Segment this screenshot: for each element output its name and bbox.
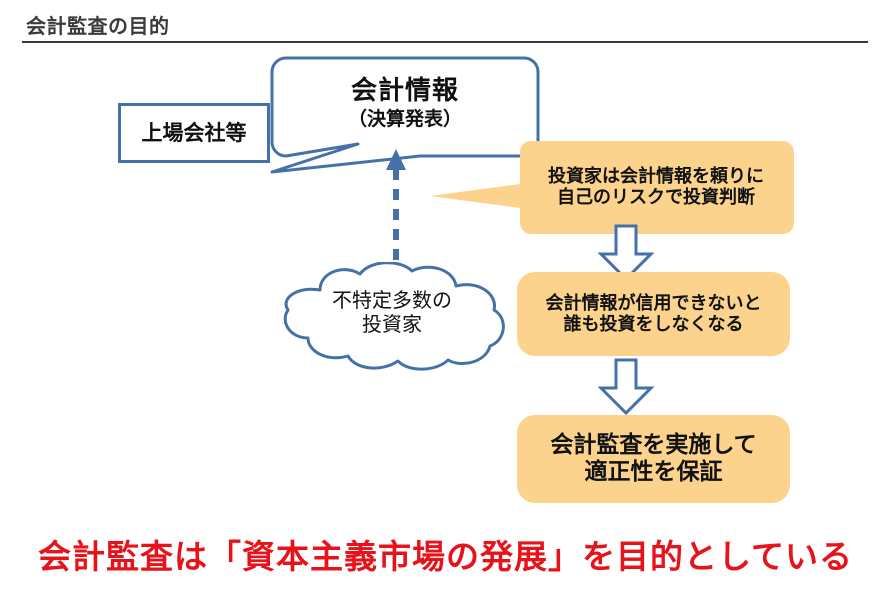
audit-box: 会計監査を実施して 適正性を保証 [517,415,790,503]
page-title: 会計監査の目的 [26,10,170,39]
investors-cloud-line-2: 投資家 [362,313,422,337]
down-arrow-bottom [598,358,654,416]
audit-text-group: 会計監査を実施して 適正性を保証 [517,415,790,503]
down-arrow-shape [598,358,654,416]
listed-company-label: 上場会社等 [121,106,267,160]
audit-line-1: 会計監査を実施して [550,432,756,459]
investors-cloud-line-1: 不特定多数の [332,289,452,313]
investors-cloud: 不特定多数の 投資家 [258,262,526,372]
distrust-box: 会計情報が信用できないと 誰も投資をしなくなる [517,272,790,356]
investors-rely-callout: 投資家は会計情報を頼りに 自己のリスクで投資判断 [425,140,795,235]
accounting-info-text-group: 会計情報 （決算発表） [288,64,522,142]
distrust-text-group: 会計情報が信用できないと 誰も投資をしなくなる [517,272,790,356]
investors-rely-text-group: 投資家は会計情報を頼りに 自己のリスクで投資判断 [521,146,791,228]
title-divider [22,41,868,43]
conclusion-text: 会計監査は「資本主義市場の発展」を目的としている [0,530,891,578]
accounting-info-line-1: 会計情報 [351,76,459,107]
listed-company-box: 上場会社等 [118,103,270,163]
audit-line-2: 適正性を保証 [585,459,723,486]
accounting-info-line-2: （決算発表） [348,108,462,130]
investors-rely-line-1: 投資家は会計情報を頼りに [548,166,764,187]
distrust-line-2: 誰も投資をしなくなる [564,314,744,335]
distrust-line-1: 会計情報が信用できないと [546,293,762,314]
investors-rely-line-2: 自己のリスクで投資判断 [557,187,755,208]
investors-cloud-text-group: 不特定多数の 投資家 [300,278,484,348]
